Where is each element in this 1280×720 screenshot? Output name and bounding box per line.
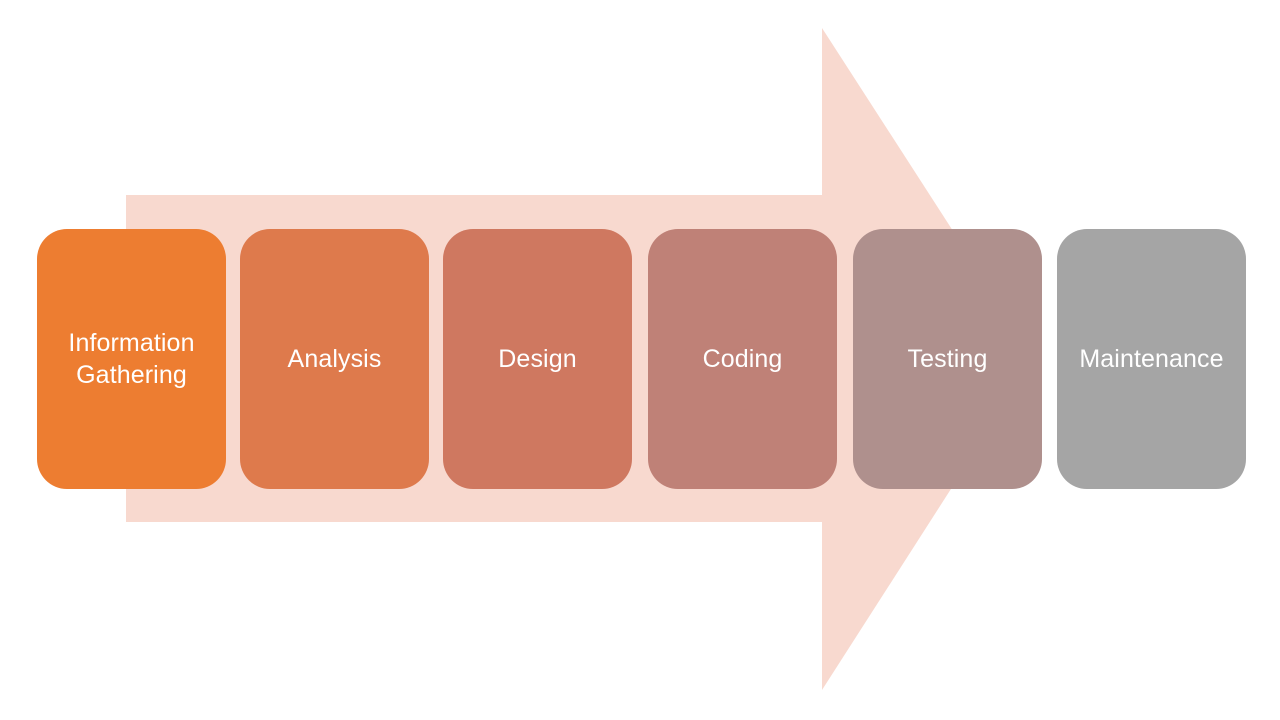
stage-label-coding: Coding (703, 343, 783, 375)
stage-box-coding[interactable]: Coding (648, 229, 837, 489)
diagram-canvas: Information Gathering Analysis Design Co… (0, 0, 1280, 720)
stage-label-testing: Testing (908, 343, 988, 375)
stage-box-analysis[interactable]: Analysis (240, 229, 429, 489)
stage-label-design: Design (498, 343, 576, 375)
stage-label-analysis: Analysis (288, 343, 382, 375)
stage-label-maintenance: Maintenance (1079, 343, 1223, 375)
stage-box-information-gathering[interactable]: Information Gathering (37, 229, 226, 489)
stage-list: Information Gathering Analysis Design Co… (0, 229, 1280, 489)
stage-box-testing[interactable]: Testing (853, 229, 1042, 489)
stage-box-design[interactable]: Design (443, 229, 632, 489)
stage-label-information-gathering: Information Gathering (68, 327, 194, 391)
stage-box-maintenance[interactable]: Maintenance (1057, 229, 1246, 489)
